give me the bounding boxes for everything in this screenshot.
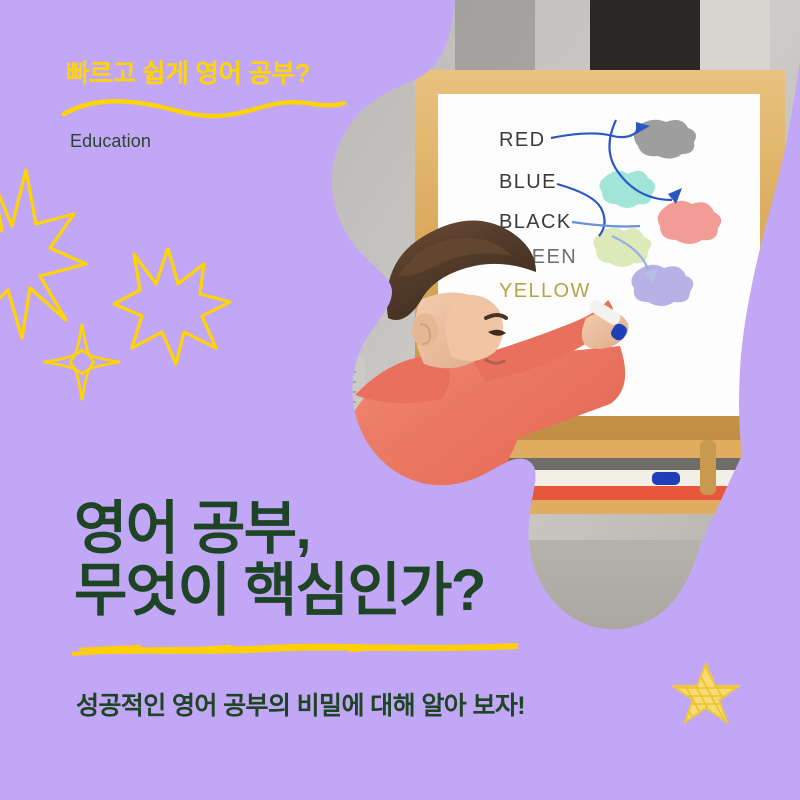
wavy-line-icon (60, 95, 350, 121)
headline-line-1: 영어 공부, (74, 498, 634, 560)
brush-underline-icon (70, 640, 520, 658)
subheadline: 성공적인 영어 공부의 비밀에 대해 알아 보자! (76, 686, 525, 722)
board-word-black: BLACK (499, 211, 572, 233)
radiator (300, 355, 365, 490)
eyebrow-title: 빠르고 쉽게 영어 공부? (66, 60, 486, 89)
category-label: Education (70, 131, 486, 152)
board-word-red: RED (499, 129, 545, 151)
top-text-block: 빠르고 쉽게 영어 공부? Education (66, 60, 486, 152)
headline-line-2: 무엇이 핵심인가? (74, 560, 634, 622)
marker-on-tray (652, 472, 680, 485)
board-word-blue: BLUE (499, 171, 557, 193)
board-word-yellow: YELLOW (499, 280, 591, 302)
poster-canvas: RED BLUE BLACK GREEN YELLOW (0, 0, 800, 800)
headline-block: 영어 공부, 무엇이 핵심인가? (74, 498, 634, 622)
